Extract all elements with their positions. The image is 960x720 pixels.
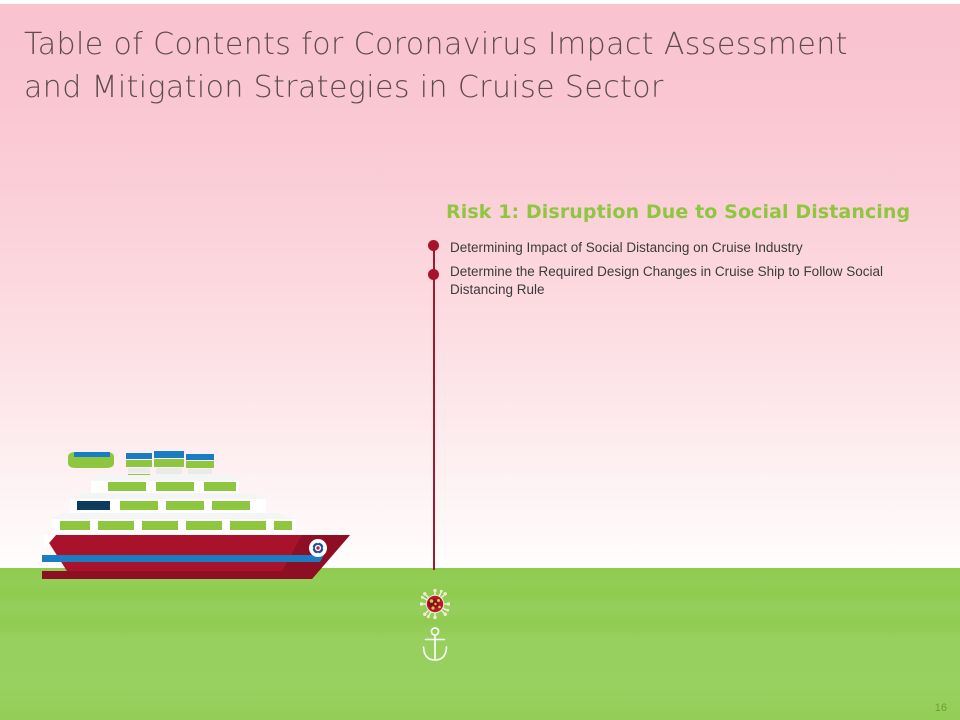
anchor-icon (419, 626, 451, 664)
bullet-marker (428, 240, 439, 251)
hull-stripe (42, 555, 324, 562)
cruise-ship-illustration (36, 443, 366, 583)
coronavirus-icon (420, 589, 450, 619)
slide-canvas: Table of Contents for Coronavirus Impact… (0, 0, 960, 720)
timeline-connector-line (433, 243, 435, 570)
bullet-marker (428, 269, 439, 280)
green-ground-band (0, 568, 960, 720)
page-number: 16 (935, 702, 947, 714)
risk-section-heading: Risk 1: Disruption Due to Social Distanc… (446, 201, 910, 223)
deck4-windows (108, 482, 236, 491)
life-ring-icon (309, 539, 327, 557)
bullet-item-text: Determining Impact of Social Distancing … (450, 239, 932, 257)
page-title: Table of Contents for Coronavirus Impact… (24, 24, 924, 109)
bullet-item-text: Determine the Required Design Changes in… (450, 263, 932, 299)
